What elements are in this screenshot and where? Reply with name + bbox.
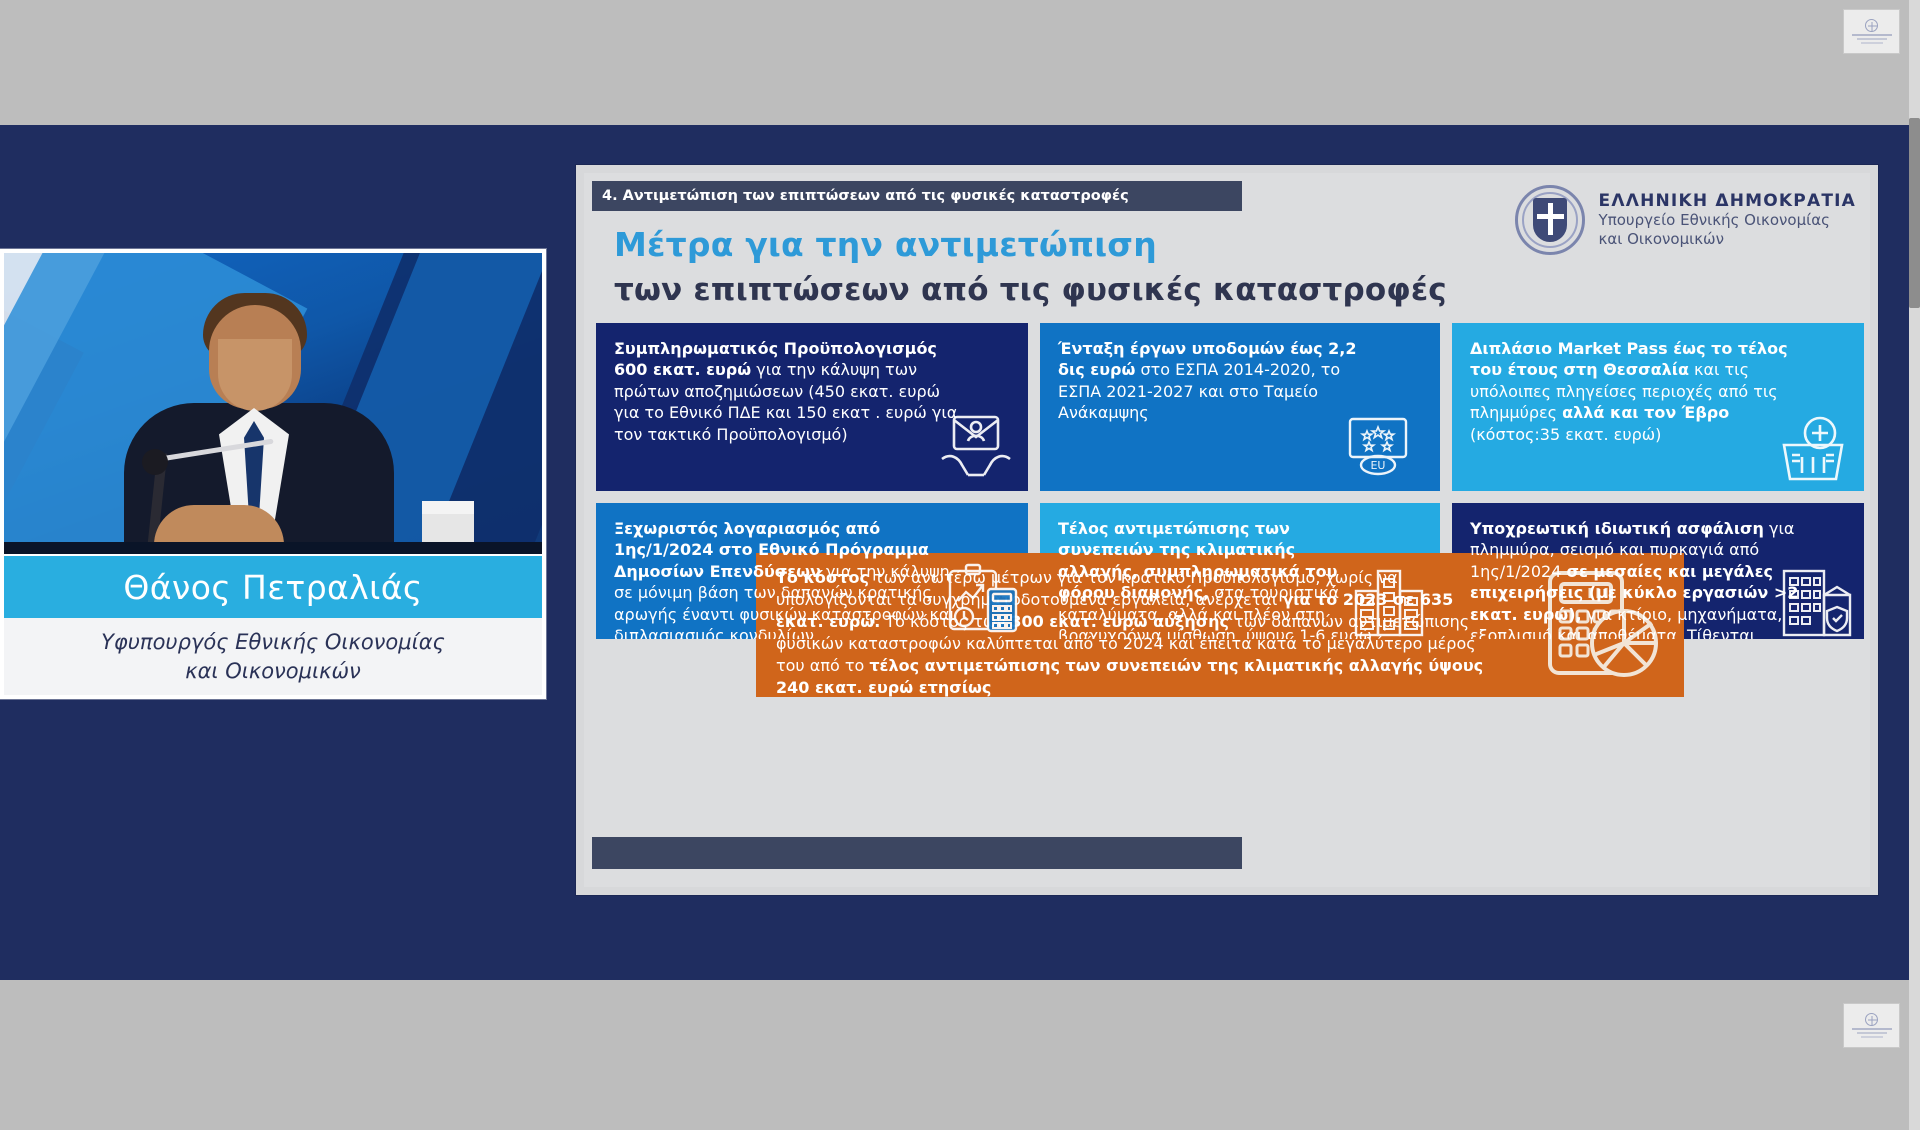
slide-thumbnail-top[interactable] <box>1843 9 1900 54</box>
card-supplementary-budget[interactable]: Συμπληρωματικός Προϋπολογισμός 600 εκατ.… <box>596 323 1028 491</box>
slide-title-line-2: των επιπτώσεων από τις φυσικές καταστροφ… <box>614 272 1714 308</box>
eu-flag-icon: EU <box>1340 415 1416 477</box>
svg-text:EU: EU <box>1370 459 1385 472</box>
page-scrollbar-thumb[interactable] <box>1909 118 1920 308</box>
thumb-line <box>1857 1032 1887 1034</box>
card-climate-levy[interactable]: Τέλος αντιμετώπισης των συνεπειών της κλ… <box>1040 503 1440 639</box>
slide-canvas: 4. Αντιμετώπιση των επιπτώσεων από τις φ… <box>584 173 1870 887</box>
speaker-name: Θάνος Πετραλιάς <box>123 568 422 607</box>
card-body-text-2: (κόστος:35 εκατ. ευρώ) <box>1470 425 1661 444</box>
speaker-role-line2: και Οικονομικών <box>185 657 361 685</box>
speaker-video-frame[interactable] <box>4 253 542 554</box>
slide-section-tab: 4. Αντιμετώπιση των επιπτώσεων από τις φ… <box>592 181 1242 211</box>
slide-title-line-1: Μέτρα για την αντιμετώπιση <box>614 225 1714 264</box>
table-edge <box>4 542 542 554</box>
thumb-line <box>1861 1036 1883 1038</box>
slide-section-tab-label: 4. Αντιμετώπιση των επιπτώσεων από τις φ… <box>602 188 1129 204</box>
card-infrastructure-projects[interactable]: Ένταξη έργων υποδομών έως 2,2 δις ευρώ σ… <box>1040 323 1440 491</box>
thumb-line <box>1852 1028 1892 1030</box>
slide-bottom-bar <box>592 837 1242 869</box>
microphone-head <box>142 449 168 475</box>
water-glass-rim <box>422 501 474 514</box>
slide-container[interactable]: 4. Αντιμετώπιση των επιπτώσεων από τις φ… <box>576 165 1878 895</box>
speaker-name-bar: Θάνος Πετραλιάς <box>4 556 542 618</box>
page-top-margin <box>0 0 1920 125</box>
logo-line-1: ΕΛΛΗΝΙΚΗ ΔΗΜΟΚΡΑΤΙΑ <box>1599 191 1856 211</box>
speaker-role-line1: Υφυπουργός Εθνικής Οικονομίας <box>101 628 445 656</box>
thumb-line <box>1852 34 1892 36</box>
measures-card-grid: Συμπληρωματικός Προϋπολογισμός 600 εκατ.… <box>596 323 1864 651</box>
card-row-1: Συμπληρωματικός Προϋπολογισμός 600 εκατ.… <box>596 323 1864 491</box>
page-scrollbar-track[interactable] <box>1909 0 1920 1130</box>
card-row-2: Ξεχωριστός λογαριασμός από 1ης/1/2024 στ… <box>596 503 1864 639</box>
slide-thumbnail-bottom[interactable] <box>1843 1003 1900 1048</box>
speaker-face <box>218 339 292 411</box>
thumb-line <box>1857 38 1887 40</box>
card-market-pass[interactable]: Διπλάσιο Market Pass έως το τέλος του έτ… <box>1452 323 1864 491</box>
banner-bold-4: τέλος αντιμετώπισης των συνεπειών της κλ… <box>776 656 1483 697</box>
presentation-stage: Θάνος Πετραλιάς Υφυπουργός Εθνικής Οικον… <box>0 125 1920 980</box>
page-bottom-margin <box>0 980 1920 1130</box>
speaker-video-panel[interactable]: Θάνος Πετραλιάς Υφυπουργός Εθνικής Οικον… <box>0 249 546 699</box>
card-separate-account[interactable]: Ξεχωριστός λογαριασμός από 1ης/1/2024 στ… <box>596 503 1028 639</box>
screen-root: Θάνος Πετραλιάς Υφυπουργός Εθνικής Οικον… <box>0 0 1920 1130</box>
card-mandatory-insurance[interactable]: Υποχρεωτική ιδιωτική ασφάλιση για πλημμύ… <box>1452 503 1864 639</box>
speaker-role-bar: Υφυπουργός Εθνικής Οικονομίας και Οικονο… <box>4 618 542 695</box>
crest-icon <box>1865 19 1878 32</box>
card-bold-text-2: αλλά και τον Έβρο <box>1562 403 1729 422</box>
thumb-line <box>1861 42 1883 44</box>
card-bold-text: Υποχρεωτική ιδιωτική ασφάλιση <box>1470 519 1764 538</box>
crest-icon <box>1865 1013 1878 1026</box>
slide-title: Μέτρα για την αντιμετώπιση των επιπτώσεω… <box>614 225 1714 308</box>
